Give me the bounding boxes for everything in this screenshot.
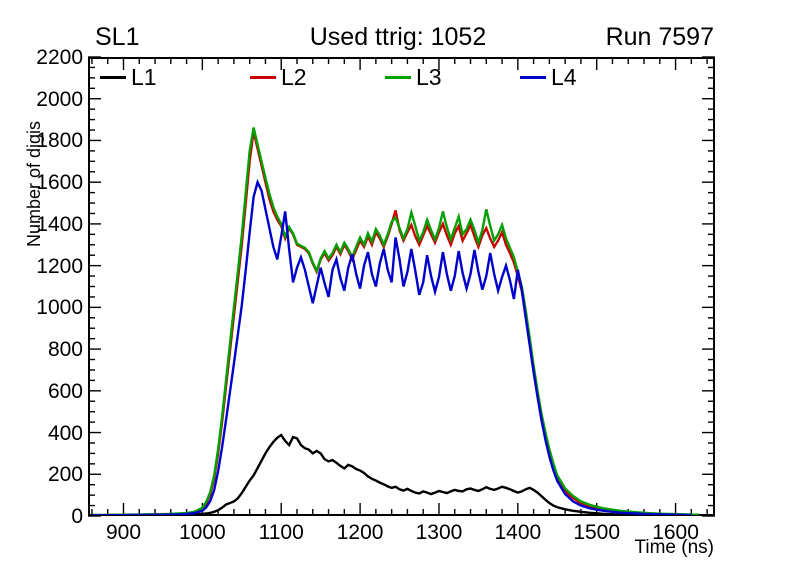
y-tick-label: 2200 — [36, 47, 83, 68]
y-tick-label: 1200 — [36, 256, 83, 277]
legend-swatch-l2 — [250, 76, 276, 79]
x-tick-label: 1100 — [259, 522, 304, 543]
y-tick-label: 2000 — [36, 89, 83, 110]
x-tick-label: 1300 — [416, 522, 463, 543]
chart-canvas: SL1 Used ttrig: 1052 Run 7597 Number of … — [0, 0, 796, 572]
y-tick-label: 800 — [48, 339, 83, 360]
legend-label: L3 — [416, 66, 442, 89]
x-tick-label: 1200 — [337, 522, 384, 543]
legend-item-l2[interactable]: L2 — [250, 62, 307, 92]
legend: L1L2L3L4 — [100, 62, 620, 92]
legend-swatch-l4 — [520, 76, 546, 79]
x-tick-label: 1000 — [179, 522, 226, 543]
y-tick-label: 1000 — [36, 297, 83, 318]
header-right-label: Run 7597 — [606, 22, 714, 52]
x-axis-tick-labels: 9001000110012001300140015001600 — [88, 520, 715, 550]
legend-item-l4[interactable]: L4 — [520, 62, 577, 92]
x-tick-label: 1400 — [494, 522, 541, 543]
y-tick-label: 200 — [48, 464, 83, 485]
x-tick-label: 1600 — [652, 522, 699, 543]
legend-label: L4 — [551, 66, 577, 89]
y-tick-label: 1400 — [36, 214, 83, 235]
y-tick-label: 0 — [71, 506, 83, 527]
legend-item-l1[interactable]: L1 — [100, 62, 157, 92]
y-tick-label: 1800 — [36, 130, 83, 151]
legend-label: L2 — [281, 66, 307, 89]
legend-swatch-l3 — [385, 76, 411, 79]
legend-item-l3[interactable]: L3 — [385, 62, 442, 92]
y-tick-label: 600 — [48, 381, 83, 402]
y-tick-label: 1600 — [36, 172, 83, 193]
x-tick-label: 900 — [106, 522, 141, 543]
y-axis-tick-labels: 0200400600800100012001400160018002000220… — [0, 57, 83, 516]
legend-label: L1 — [131, 66, 157, 89]
legend-swatch-l1 — [100, 76, 126, 79]
x-tick-label: 1500 — [573, 522, 620, 543]
plot-frame — [88, 57, 715, 516]
y-tick-label: 400 — [48, 423, 83, 444]
